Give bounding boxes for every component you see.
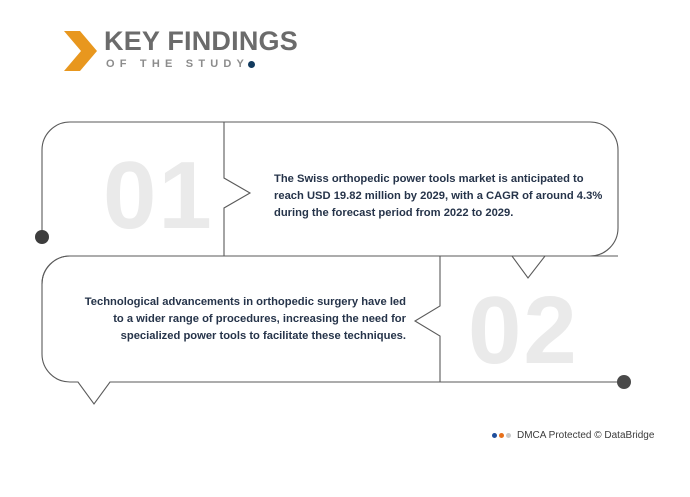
infographic-canvas: KEY FINDINGS OF THE STUDY 01 02 The Swis… (0, 0, 690, 497)
footer-dot-1-icon (492, 433, 497, 438)
card-2-text: Technological advancements in orthopedic… (76, 294, 406, 345)
footer-dot-3-icon (506, 433, 511, 438)
left-end-dot-icon (35, 230, 49, 244)
right-end-dot-icon (617, 375, 631, 389)
footer-dot-2-icon (499, 433, 504, 438)
card-2-divider (415, 256, 440, 382)
card-2-number: 02 (468, 283, 579, 379)
card-1-number: 01 (103, 148, 214, 244)
footer-attribution: DMCA Protected © DataBridge (492, 430, 654, 441)
card-1-divider (224, 122, 250, 256)
footer-label: DMCA Protected © DataBridge (517, 430, 654, 441)
card-1-text: The Swiss orthopedic power tools market … (274, 171, 604, 222)
